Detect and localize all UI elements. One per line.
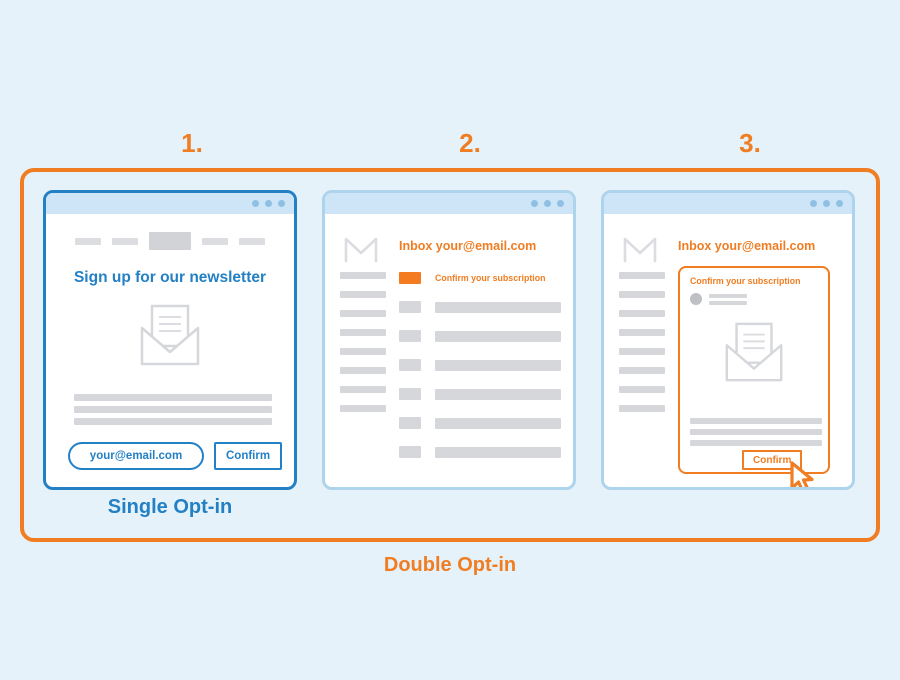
row-chip (399, 359, 421, 371)
sidebar-item[interactable] (619, 386, 665, 393)
sidebar-item[interactable] (340, 291, 386, 298)
nav-placeholder-item (75, 238, 101, 245)
sidebar-item[interactable] (619, 348, 665, 355)
sidebar-item[interactable] (619, 329, 665, 336)
opened-email-card: Confirm your subscription (678, 266, 830, 474)
sidebar-item[interactable] (619, 272, 665, 279)
avatar (690, 293, 702, 305)
mouse-pointer-cursor-icon (788, 461, 818, 490)
sidebar-item[interactable] (619, 367, 665, 374)
inbox-row[interactable] (399, 301, 561, 313)
open-envelope-icon (721, 320, 787, 391)
open-envelope-icon (136, 302, 204, 375)
window-dot-icon (278, 200, 285, 207)
sidebar-item[interactable] (340, 310, 386, 317)
email-subject: Confirm your subscription (435, 273, 545, 283)
nav-placeholder-item (239, 238, 265, 245)
step-number-1: 1. (162, 128, 222, 159)
row-text-placeholder (435, 389, 561, 400)
sender-row (690, 293, 747, 305)
panel-signup-form: Sign up for our newsletter your@email.co… (43, 190, 297, 490)
row-chip (399, 388, 421, 400)
text-line (690, 429, 822, 435)
window-dot-icon (836, 200, 843, 207)
window-dot-icon (531, 200, 538, 207)
step-number-2: 2. (440, 128, 500, 159)
email-input[interactable]: your@email.com (68, 442, 204, 470)
gmail-m-logo-icon (622, 236, 658, 269)
inbox-row[interactable] (399, 388, 561, 400)
nav-placeholder-bars (46, 232, 294, 250)
row-text-placeholder (435, 302, 561, 313)
step-number-3: 3. (720, 128, 780, 159)
row-chip (399, 417, 421, 429)
row-chip (399, 446, 421, 458)
body-text-placeholder-lines (690, 418, 822, 451)
sidebar-item[interactable] (340, 272, 386, 279)
diagram-stage: 1. 2. 3. Sign up for our newsletter (0, 0, 900, 680)
panel-inbox-list: Inbox your@email.com Confirm your subscr… (322, 190, 576, 490)
panel-email-detail: Inbox your@email.com Confirm your subscr… (601, 190, 855, 490)
text-line (74, 418, 272, 425)
caption-single-optin: Single Opt-in (43, 496, 297, 519)
email-subject: Confirm your subscription (690, 276, 800, 286)
sidebar-item[interactable] (340, 367, 386, 374)
panel-body: Inbox your@email.com Confirm your subscr… (325, 214, 573, 487)
text-line (74, 394, 272, 401)
sidebar-item[interactable] (619, 291, 665, 298)
text-line (74, 406, 272, 413)
text-line (709, 301, 747, 305)
window-dots (810, 200, 843, 207)
inbox-title: Inbox your@email.com (399, 239, 536, 253)
inbox-row[interactable] (399, 359, 561, 371)
caption-double-optin: Double Opt-in (0, 554, 900, 577)
sidebar-item[interactable] (619, 405, 665, 412)
browser-titlebar (604, 193, 852, 214)
confirm-button[interactable]: Confirm (214, 442, 282, 470)
window-dot-icon (810, 200, 817, 207)
text-line (690, 440, 822, 446)
nav-placeholder-item-active (149, 232, 191, 250)
window-dot-icon (557, 200, 564, 207)
row-chip-active (399, 272, 421, 284)
window-dots (531, 200, 564, 207)
window-dots (252, 200, 285, 207)
gmail-m-logo-icon (343, 236, 379, 269)
nav-placeholder-item (202, 238, 228, 245)
text-line (690, 418, 822, 424)
window-dot-icon (823, 200, 830, 207)
row-chip (399, 301, 421, 313)
mail-sidebar-placeholders (340, 272, 386, 424)
inbox-row-highlighted[interactable]: Confirm your subscription (399, 272, 561, 284)
window-dot-icon (544, 200, 551, 207)
sidebar-item[interactable] (340, 329, 386, 336)
panel-body: Inbox your@email.com Confirm your subscr… (604, 214, 852, 487)
window-dot-icon (252, 200, 259, 207)
signup-heading: Sign up for our newsletter (46, 269, 294, 287)
sidebar-item[interactable] (340, 405, 386, 412)
row-text-placeholder (435, 331, 561, 342)
sender-placeholder-lines (709, 294, 747, 305)
row-text-placeholder (435, 418, 561, 429)
step-numbers: 1. 2. 3. (20, 128, 880, 164)
inbox-row-list: Confirm your subscription (399, 272, 561, 475)
inbox-row[interactable] (399, 446, 561, 458)
mail-sidebar-placeholders (619, 272, 665, 424)
panel-body: Sign up for our newsletter your@email.co… (46, 214, 294, 487)
inbox-row[interactable] (399, 417, 561, 429)
sidebar-item[interactable] (340, 386, 386, 393)
row-chip (399, 330, 421, 342)
inbox-title: Inbox your@email.com (678, 239, 815, 253)
row-text-placeholder (435, 447, 561, 458)
browser-titlebar (46, 193, 294, 214)
inbox-row[interactable] (399, 330, 561, 342)
body-text-placeholder-lines (74, 394, 272, 430)
browser-titlebar (325, 193, 573, 214)
window-dot-icon (265, 200, 272, 207)
row-text-placeholder (435, 360, 561, 371)
sidebar-item[interactable] (619, 310, 665, 317)
text-line (709, 294, 747, 298)
sidebar-item[interactable] (340, 348, 386, 355)
nav-placeholder-item (112, 238, 138, 245)
signup-form-row: your@email.com Confirm (68, 442, 282, 470)
